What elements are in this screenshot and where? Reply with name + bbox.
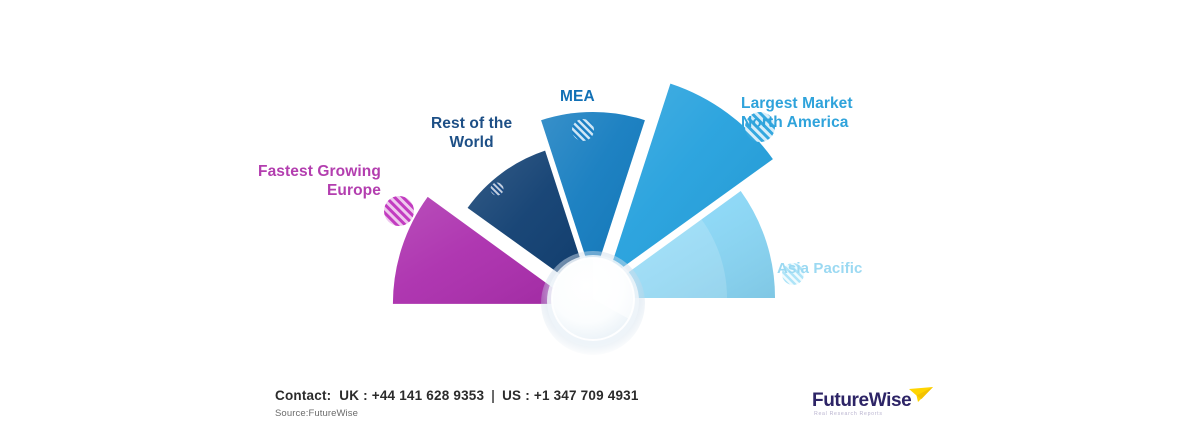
label-asia-pacific[interactable]: Asia Pacific xyxy=(777,260,862,278)
logo-word-wise: Wise xyxy=(869,390,912,411)
contact-separator: | xyxy=(488,388,498,403)
regional-fan-chart xyxy=(0,0,1200,428)
label-rest-of-world-line1: Rest of the xyxy=(431,115,512,132)
label-asia-pacific-text: Asia Pacific xyxy=(777,260,862,278)
label-europe[interactable]: Fastest Growing Europe xyxy=(258,163,381,201)
label-europe-text: Fastest Growing Europe xyxy=(258,163,381,201)
label-asia-pacific-line1: Asia Pacific xyxy=(777,260,862,277)
label-mea[interactable]: MEA xyxy=(560,88,595,107)
label-rest-of-world-text: Rest of the World xyxy=(431,115,512,153)
footer: Contact: UK : +44 141 628 9353 | US : +1… xyxy=(0,376,1200,428)
us-label: US : xyxy=(502,388,530,403)
source-line: Source:FutureWise xyxy=(275,408,358,419)
label-rest-of-world-line2: World xyxy=(431,134,512,153)
marker-rest-of-world-icon xyxy=(491,183,504,196)
label-europe-line2: Europe xyxy=(258,182,381,201)
futurewise-logo[interactable]: FutureWise Real Research Reports xyxy=(812,384,932,422)
marker-europe-icon xyxy=(384,196,414,226)
logo-swoosh-icon xyxy=(908,386,934,408)
label-north-america-line1: Largest Market xyxy=(741,95,853,112)
chart-center-hub xyxy=(541,251,645,355)
infographic-canvas: Fastest Growing Europe Rest of the World… xyxy=(0,0,1200,428)
logo-word-future: Future xyxy=(812,390,869,411)
us-phone[interactable]: +1 347 709 4931 xyxy=(534,388,639,403)
label-north-america[interactable]: Largest Market North America xyxy=(741,95,853,133)
label-north-america-text: Largest Market North America xyxy=(741,95,853,133)
logo-wordmark: FutureWise xyxy=(812,390,911,412)
label-mea-text: MEA xyxy=(560,88,595,107)
label-rest-of-world[interactable]: Rest of the World xyxy=(431,115,512,153)
label-europe-line1: Fastest Growing xyxy=(258,163,381,180)
contact-line: Contact: UK : +44 141 628 9353 | US : +1… xyxy=(275,388,639,403)
label-north-america-line2: North America xyxy=(741,114,853,133)
marker-mea-icon xyxy=(572,119,594,141)
contact-label: Contact: xyxy=(275,388,331,403)
logo-tagline: Real Research Reports xyxy=(814,411,883,417)
uk-phone[interactable]: +44 141 628 9353 xyxy=(372,388,484,403)
uk-label: UK : xyxy=(339,388,368,403)
label-mea-line1: MEA xyxy=(560,88,595,105)
